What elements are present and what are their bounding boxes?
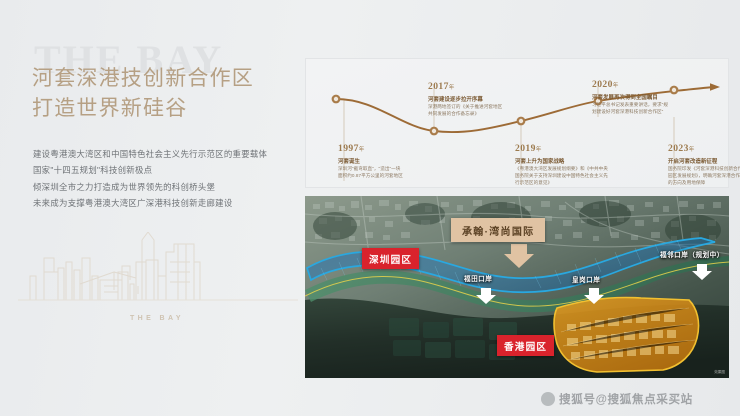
timeline-desc-2019: 《粤港澳大湾区发展规划纲要》和《中共中央 国务院关于支持深圳建设中国特色社会主义…	[515, 166, 625, 186]
timeline-arrow-icon	[710, 83, 720, 91]
aerial-map-image: 承翰·湾尚国际 深圳园区 香港园区 福田口岸 皇岗口岸 福邻口岸（规划中） 效果…	[305, 196, 729, 378]
timeline-headline-2017: 河套建设逐步拉开序幕	[428, 95, 524, 103]
timeline-card: 1997年 河套诞生 深圳河"截弯取直"，"造出"一块 面积约0.87平方公里的…	[305, 58, 729, 188]
description-line-3: 倾深圳全市之力打造成为世界领先的科创桥头堡	[33, 179, 267, 195]
timeline-entry-2020: 2020年 河套发展再次得到全国瞩目 习近平总书记发表重要讲话，要求"规 划建设…	[592, 79, 700, 116]
port-label-fulin: 福邻口岸（规划中）	[660, 249, 724, 259]
description-line-2: 国家"十四五规划"科技创新极点	[33, 162, 267, 178]
page-title: 河套深港技创新合作区 打造世界新硅谷	[32, 64, 254, 124]
description-text: 建设粤港澳大湾区和中国特色社会主义先行示范区的重要载体 国家"十四五规划"科技创…	[33, 146, 267, 212]
timeline-desc-2017: 深港两地签订的《关于推进河套地区 共同发展的合作备忘录》	[428, 104, 524, 118]
map-credit-note: 效果图	[714, 370, 725, 375]
page-title-line-2: 打造世界新硅谷	[32, 94, 254, 124]
zone-badge-hongkong: 香港园区	[497, 335, 554, 356]
description-line-1: 建设粤港澳大湾区和中国特色社会主义先行示范区的重要载体	[33, 146, 267, 162]
timeline-year-2023: 2023年	[668, 143, 740, 154]
timeline-headline-2019: 河套上升为国家战略	[515, 157, 625, 165]
skyline-brand-label: THE BAY	[130, 315, 184, 322]
description-line-4: 未来成为支撑粤港澳大湾区广深港科技创新走廊建设	[33, 195, 267, 211]
timeline-year-2017: 2017年	[428, 81, 524, 92]
timeline-entry-1997: 1997年 河套诞生 深圳河"截弯取直"，"造出"一块 面积约0.87平方公里的…	[338, 143, 430, 180]
timeline-year-1997: 1997年	[338, 143, 430, 154]
zone-badge-shenzhen: 深圳园区	[362, 248, 419, 269]
timeline-year-2019: 2019年	[515, 143, 625, 154]
left-info-panel: THE BAY 河套深港技创新合作区 打造世界新硅谷 建设粤港澳大湾区和中国特色…	[0, 0, 300, 416]
timeline-headline-2023: 开启河套改造新征程	[668, 157, 740, 165]
watermark-text: 搜狐号@搜狐焦点采买站	[559, 391, 693, 407]
timeline-entry-2017: 2017年 河套建设逐步拉开序幕 深港两地签订的《关于推进河套地区 共同发展的合…	[428, 81, 524, 118]
watermark-avatar-icon	[541, 392, 555, 406]
timeline-year-2020: 2020年	[592, 79, 700, 90]
timeline-headline-2020: 河套发展再次得到全国瞩目	[592, 93, 700, 101]
timeline-node-1997	[332, 95, 341, 104]
port-label-huanggang: 皇岗口岸	[572, 274, 600, 284]
timeline-desc-2020: 习近平总书记发表重要讲话，要求"规 划建设好河套深港科技创新合作区"	[592, 102, 700, 116]
timeline-node-2019	[517, 117, 526, 126]
city-skyline-icon	[18, 232, 298, 342]
timeline-desc-1997: 深圳河"截弯取直"，"造出"一块 面积约0.87平方公里的河套地区	[338, 166, 430, 180]
port-label-futian: 福田口岸	[464, 273, 492, 283]
timeline-headline-1997: 河套诞生	[338, 157, 430, 165]
page-title-line-1: 河套深港技创新合作区	[32, 64, 254, 94]
project-name-banner: 承翰·湾尚国际	[451, 218, 545, 242]
timeline-desc-2023: 国务院印发《河套深港科技创新合作区深圳 园区发展规划》，明确河套深港合作区发展 …	[668, 166, 740, 186]
timeline-entry-2023: 2023年 开启河套改造新征程 国务院印发《河套深港科技创新合作区深圳 园区发展…	[668, 143, 740, 186]
timeline-entry-2019: 2019年 河套上升为国家战略 《粤港澳大湾区发展规划纲要》和《中共中央 国务院…	[515, 143, 625, 186]
timeline-node-2017	[430, 127, 439, 136]
